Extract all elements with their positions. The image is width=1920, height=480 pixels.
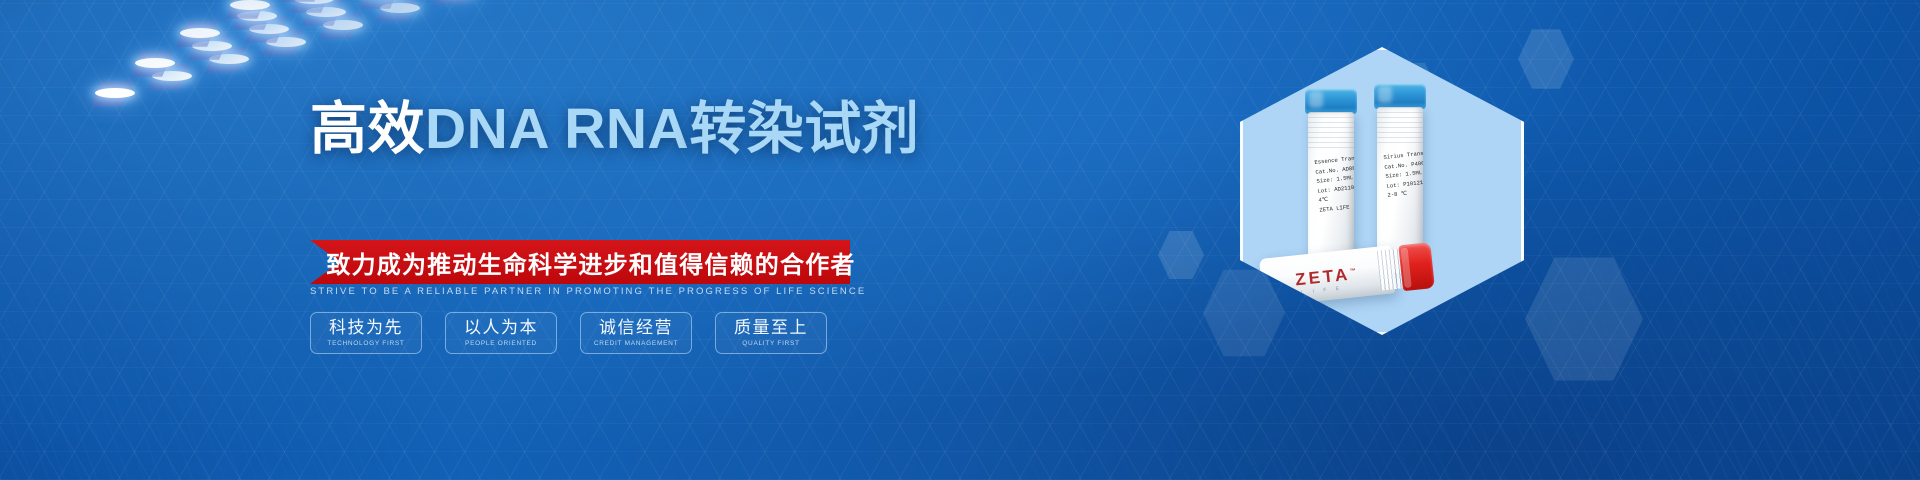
vial-lying-front: ZETA™ L I F E xyxy=(1259,241,1435,307)
product-hexagon-area: Essence TransfectionCat.No. AD88015Size:… xyxy=(1140,0,1920,480)
promo-banner: 高效DNA RNA转染试剂 致力成为推动生命科学进步和值得信赖的合作者 STRI… xyxy=(0,0,1920,480)
vial-label-left: Essence TransfectionCat.No. AD88015Size:… xyxy=(1314,154,1354,215)
vial-cap-blue-right xyxy=(1374,83,1426,109)
feature-pill-label-cn: 诚信经营 xyxy=(599,319,673,337)
hexagon-decoration-bottom-left xyxy=(1203,268,1285,358)
product-photo: Essence TransfectionCat.No. AD88015Size:… xyxy=(1243,50,1521,332)
ribbon-banner: 致力成为推动生命科学进步和值得信赖的合作者 xyxy=(310,240,850,288)
feature-pill-label-cn: 质量至上 xyxy=(734,319,808,337)
feature-pill-label-cn: 科技为先 xyxy=(329,319,403,337)
feature-pill-label-en: PEOPLE ORIENTED xyxy=(465,340,537,347)
vial-cap-blue-left xyxy=(1305,88,1357,114)
brand-trademark: ™ xyxy=(1350,268,1357,275)
feature-pill-4[interactable]: 质量至上QUALITY FIRST xyxy=(715,312,827,354)
feature-pill-3[interactable]: 诚信经营CREDIT MANAGEMENT xyxy=(580,312,692,354)
feature-pill-label-en: QUALITY FIRST xyxy=(742,340,799,347)
title-part-1: 高效 xyxy=(310,97,425,161)
banner-title: 高效DNA RNA转染试剂 xyxy=(310,101,919,158)
banner-content: 高效DNA RNA转染试剂 致力成为推动生命科学进步和值得信赖的合作者 STRI… xyxy=(0,0,1000,480)
feature-pill-label-en: CREDIT MANAGEMENT xyxy=(594,340,678,347)
hexagon-decoration-medium-top xyxy=(1518,28,1574,90)
hexagon-decoration-large-right xyxy=(1525,255,1643,383)
feature-pill-list: 科技为先TECHNOLOGY FIRST以人为本PEOPLE ORIENTED诚… xyxy=(310,312,870,354)
vial-threads-left xyxy=(1308,112,1354,148)
vial-cap-red xyxy=(1398,242,1435,291)
vial-label-right: Sirius TransfectionCat.No. P40018ESize: … xyxy=(1383,149,1423,201)
product-hexagon: Essence TransfectionCat.No. AD88015Size:… xyxy=(1240,47,1524,335)
title-part-2: DNA RNA xyxy=(425,97,689,161)
feature-pill-2[interactable]: 以人为本PEOPLE ORIENTED xyxy=(445,312,557,354)
banner-subtitle-english: STRIVE TO BE A RELIABLE PARTNER IN PROMO… xyxy=(310,286,850,297)
feature-pill-1[interactable]: 科技为先TECHNOLOGY FIRST xyxy=(310,312,422,354)
vial-lying-body: ZETA™ L I F E xyxy=(1259,245,1395,307)
ribbon-text: 致力成为推动生命科学进步和值得信赖的合作者 xyxy=(310,240,850,284)
vial-threads-right xyxy=(1377,107,1423,143)
hexagon-decoration-small-left xyxy=(1158,230,1204,280)
feature-pill-label-cn: 以人为本 xyxy=(464,319,538,337)
title-part-3: 转染试剂 xyxy=(689,97,919,161)
feature-pill-label-en: TECHNOLOGY FIRST xyxy=(327,340,404,347)
